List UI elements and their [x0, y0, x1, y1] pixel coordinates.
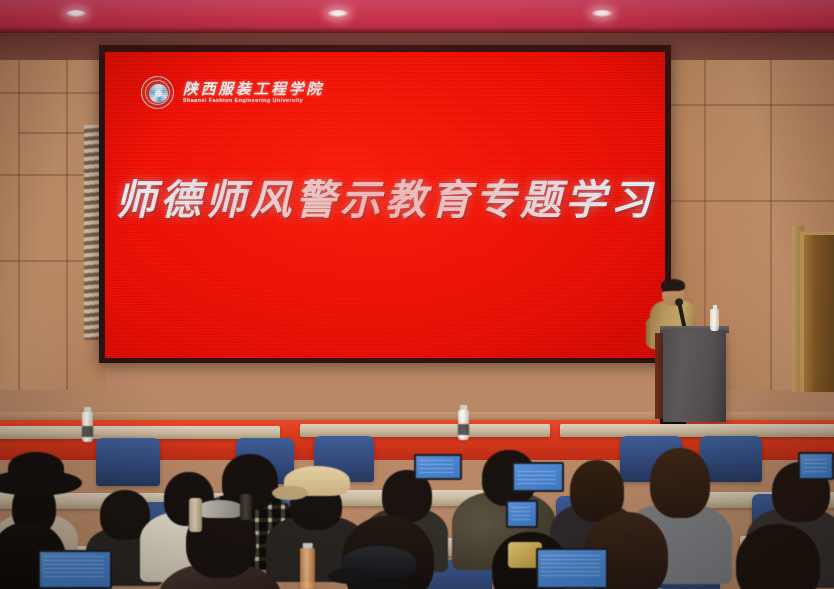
ceiling: [0, 0, 834, 33]
dark-thermos: [240, 494, 252, 520]
university-logo: 陕西服装工程学院 Shaanxi Fashion Engineering Uni…: [141, 76, 324, 109]
seat-back[interactable]: [96, 438, 160, 486]
laptop-mid-left[interactable]: [414, 454, 462, 480]
audience-area: [0, 398, 834, 589]
laptop-mid-right[interactable]: [512, 462, 564, 492]
university-emblem-icon: [141, 76, 174, 109]
podium-water-bottle: [710, 309, 719, 331]
water-bottle-desk-mid: [458, 410, 469, 440]
ceiling-downlight: [66, 10, 86, 17]
laptop-far-left-row[interactable]: [506, 500, 538, 528]
laptop-right-edge[interactable]: [798, 452, 834, 480]
ceiling-downlight: [592, 10, 612, 17]
hair-clip-icon: [196, 500, 244, 518]
lecture-hall-photo: 陕西服装工程学院 Shaanxi Fashion Engineering Uni…: [0, 0, 834, 589]
ceiling-downlight: [328, 10, 348, 17]
logo-chinese-name: 陕西服装工程学院: [183, 81, 324, 97]
laptop-front-left[interactable]: [38, 550, 112, 589]
led-screen[interactable]: 陕西服装工程学院 Shaanxi Fashion Engineering Uni…: [105, 52, 665, 358]
side-door[interactable]: [800, 232, 834, 392]
thermos-cup: [189, 498, 202, 532]
water-bottle-desk-left: [82, 412, 93, 442]
logo-english-name: Shaanxi Fashion Engineering University: [183, 98, 324, 105]
desk-row-1: [560, 424, 834, 437]
water-bottle-front: [300, 548, 315, 589]
laptop-center-low[interactable]: [536, 548, 608, 589]
screen-main-title: 师德师风警示教育专题学习: [105, 174, 665, 226]
speaker-hair: [661, 279, 685, 291]
